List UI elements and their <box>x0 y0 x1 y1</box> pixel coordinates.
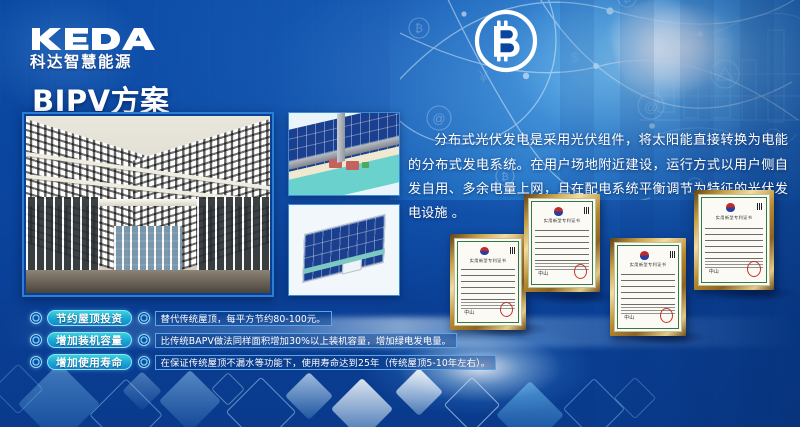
certificate-item[interactable]: 实用新型专利证书 中山 <box>450 234 526 330</box>
svg-text:@: @ <box>432 111 445 126</box>
brand-logo-subtitle: 科达智慧能源 <box>30 55 160 71</box>
bullet-icon <box>30 334 42 346</box>
svg-text:₿: ₿ <box>415 23 423 35</box>
certificate-signature: 中山 <box>464 309 474 316</box>
bitcoin-icon <box>473 8 539 74</box>
bullet-icon <box>138 356 150 368</box>
bipv-mounting-detail-render <box>288 112 400 196</box>
feature-row: 增加装机容量 比传统BAPV做法同样面积增加30%以上装机容量，增加绿电发电量。 <box>30 330 450 350</box>
feature-badge[interactable]: 节约屋顶投资 <box>47 310 132 326</box>
feature-row: 增加使用寿命 在保证传统屋顶不漏水等功能下，使用寿命达到25年（传统屋顶5-10… <box>30 352 450 372</box>
feature-list: 节约屋顶投资 替代传统屋顶，每平方节约80-100元。 增加装机容量 比传统BA… <box>30 308 450 374</box>
certificate-signature: 中山 <box>538 270 548 277</box>
feature-row: 节约屋顶投资 替代传统屋顶，每平方节约80-100元。 <box>30 308 450 328</box>
certificate-title: 实用新型专利证书 <box>699 215 769 221</box>
certificate-title: 实用新型专利证书 <box>529 218 595 224</box>
bullet-icon <box>30 312 42 324</box>
bullet-icon <box>30 356 42 368</box>
feature-badge[interactable]: 增加使用寿命 <box>47 354 132 370</box>
patent-certificates: 实用新型专利证书 中山 实用新型专利证书 中山 实用新型专利证书 中山 <box>450 190 800 350</box>
bullet-icon <box>138 334 150 346</box>
certificate-signature: 中山 <box>624 314 634 321</box>
certificate-item[interactable]: 实用新型专利证书 中山 <box>524 194 600 292</box>
keda-wordmark-icon <box>30 26 156 52</box>
certificate-title: 实用新型专利证书 <box>615 262 681 268</box>
bullet-icon <box>138 312 150 324</box>
certificate-item[interactable]: 实用新型专利证书 中山 <box>694 190 774 290</box>
feature-description: 比传统BAPV做法同样面积增加30%以上装机容量，增加绿电发电量。 <box>155 333 457 348</box>
certificate-title: 实用新型专利证书 <box>455 258 521 264</box>
feature-description: 替代传统屋顶，每平方节约80-100元。 <box>155 311 332 326</box>
atrium-skylight-photo <box>22 112 274 297</box>
feature-badge[interactable]: 增加装机容量 <box>47 332 132 348</box>
bipv-panel-array-render <box>288 204 400 296</box>
certificate-signature: 中山 <box>709 268 719 275</box>
feature-description: 在保证传统屋顶不漏水等功能下，使用寿命达到25年（传统屋顶5-10年左右）。 <box>155 355 497 370</box>
certificate-item[interactable]: 实用新型专利证书 中山 <box>610 238 686 336</box>
poster-canvas: ₿ @ ₿ ₿ @ ₿ ¥ $ <box>0 0 800 427</box>
brand-logo[interactable]: 科达智慧能源 <box>30 26 160 71</box>
